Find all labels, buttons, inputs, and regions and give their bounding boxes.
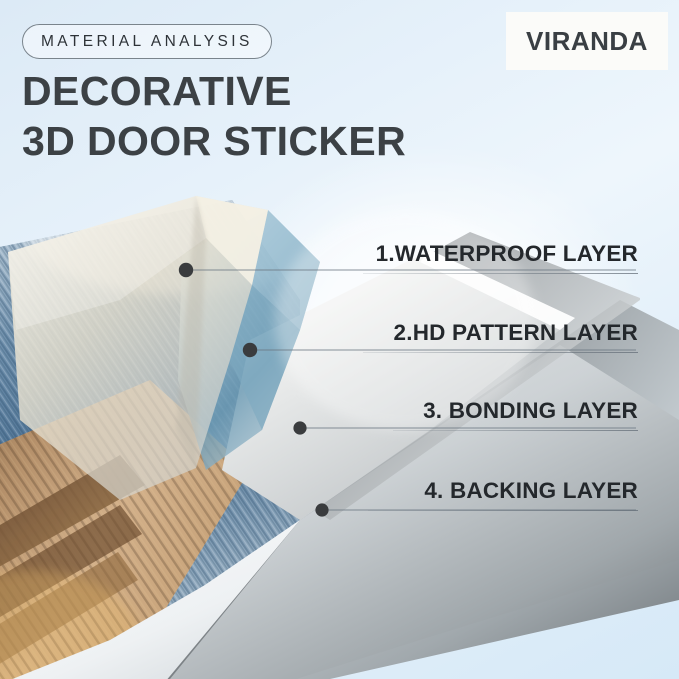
page-title: DECORATIVE 3D DOOR STICKER [22, 66, 406, 166]
callout-label: 2.HD PATTERN LAYER [394, 320, 638, 351]
eyebrow-badge: MATERIAL ANALYSIS [22, 24, 272, 59]
callout-underline [393, 430, 638, 431]
eyebrow-label: MATERIAL ANALYSIS [41, 33, 253, 51]
callout-underline [363, 273, 638, 274]
brand-name: VIRANDA [526, 26, 648, 57]
callout-hd-pattern-layer: 2.HD PATTERN LAYER [363, 320, 638, 353]
callout-underline [363, 352, 638, 353]
callout-underline [368, 510, 638, 511]
page-title-line-1: DECORATIVE [22, 66, 406, 116]
callout-label: 1.WATERPROOF LAYER [376, 241, 638, 272]
callout-bonding-layer: 3. BONDING LAYER [393, 398, 638, 431]
brand-logo-box: VIRANDA [506, 12, 668, 70]
callout-backing-layer: 4. BACKING LAYER [368, 478, 638, 511]
material-analysis-infographic: MATERIAL ANALYSIS VIRANDA DECORATIVE 3D … [0, 0, 679, 679]
callout-label: 4. BACKING LAYER [424, 478, 638, 509]
callout-label: 3. BONDING LAYER [423, 398, 638, 429]
callout-waterproof-layer: 1.WATERPROOF LAYER [363, 241, 638, 274]
page-title-line-2: 3D DOOR STICKER [22, 116, 406, 166]
